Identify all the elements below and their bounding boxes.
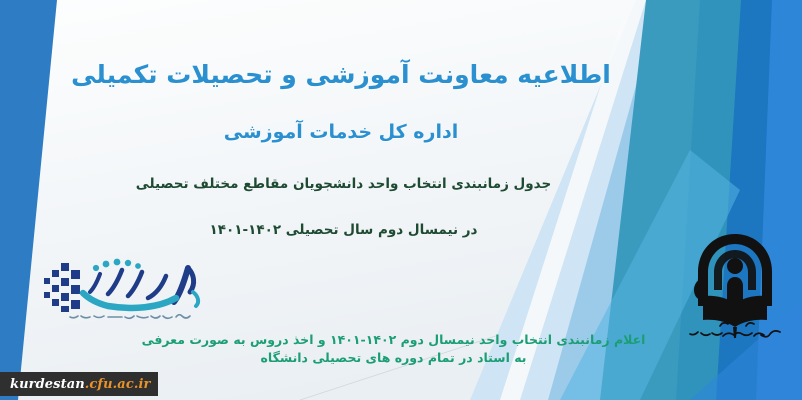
schedule-heading: جدول زمانبندی انتخاب واحد دانشجویان مقاط… (60, 175, 627, 193)
url-domain-text: .cfu.ac.ir (85, 377, 151, 392)
university-logo-graphic (676, 228, 794, 344)
page-subtitle: اداره کل خدمات آموزشی (60, 120, 622, 146)
url-host-text: kurdestan (10, 377, 85, 392)
page-title: اطلاعیه معاونت آموزشی و تحصیلات تکمیلی (60, 58, 622, 92)
golestan-tagline (70, 315, 190, 319)
term-heading: در نیمسال دوم سال تحصیلی ۱۴۰۲-۱۴۰۱ (60, 221, 627, 239)
golestan-dot-arc (93, 259, 141, 272)
notice-line-2: به استاد در تمام دوره های تحصیلی دانشگاه (105, 349, 682, 367)
announcement-banner: اطلاعیه معاونت آموزشی و تحصیلات تکمیلی ا… (0, 0, 802, 400)
golestan-logo-graphic (38, 252, 214, 324)
site-url-badge[interactable]: kurdestan .cfu.ac.ir (0, 372, 158, 396)
golestan-pixel-cluster (44, 263, 80, 312)
golestan-wordmark (83, 268, 198, 308)
notice-line-1: اعلام زمانبندی انتخاب واحد نیمسال دوم ۱۴… (105, 331, 682, 349)
farhangian-university-logo (676, 228, 794, 344)
golestan-system-logo (38, 252, 214, 324)
notice-text: اعلام زمانبندی انتخاب واحد نیمسال دوم ۱۴… (105, 331, 682, 367)
university-emblem (694, 234, 772, 338)
